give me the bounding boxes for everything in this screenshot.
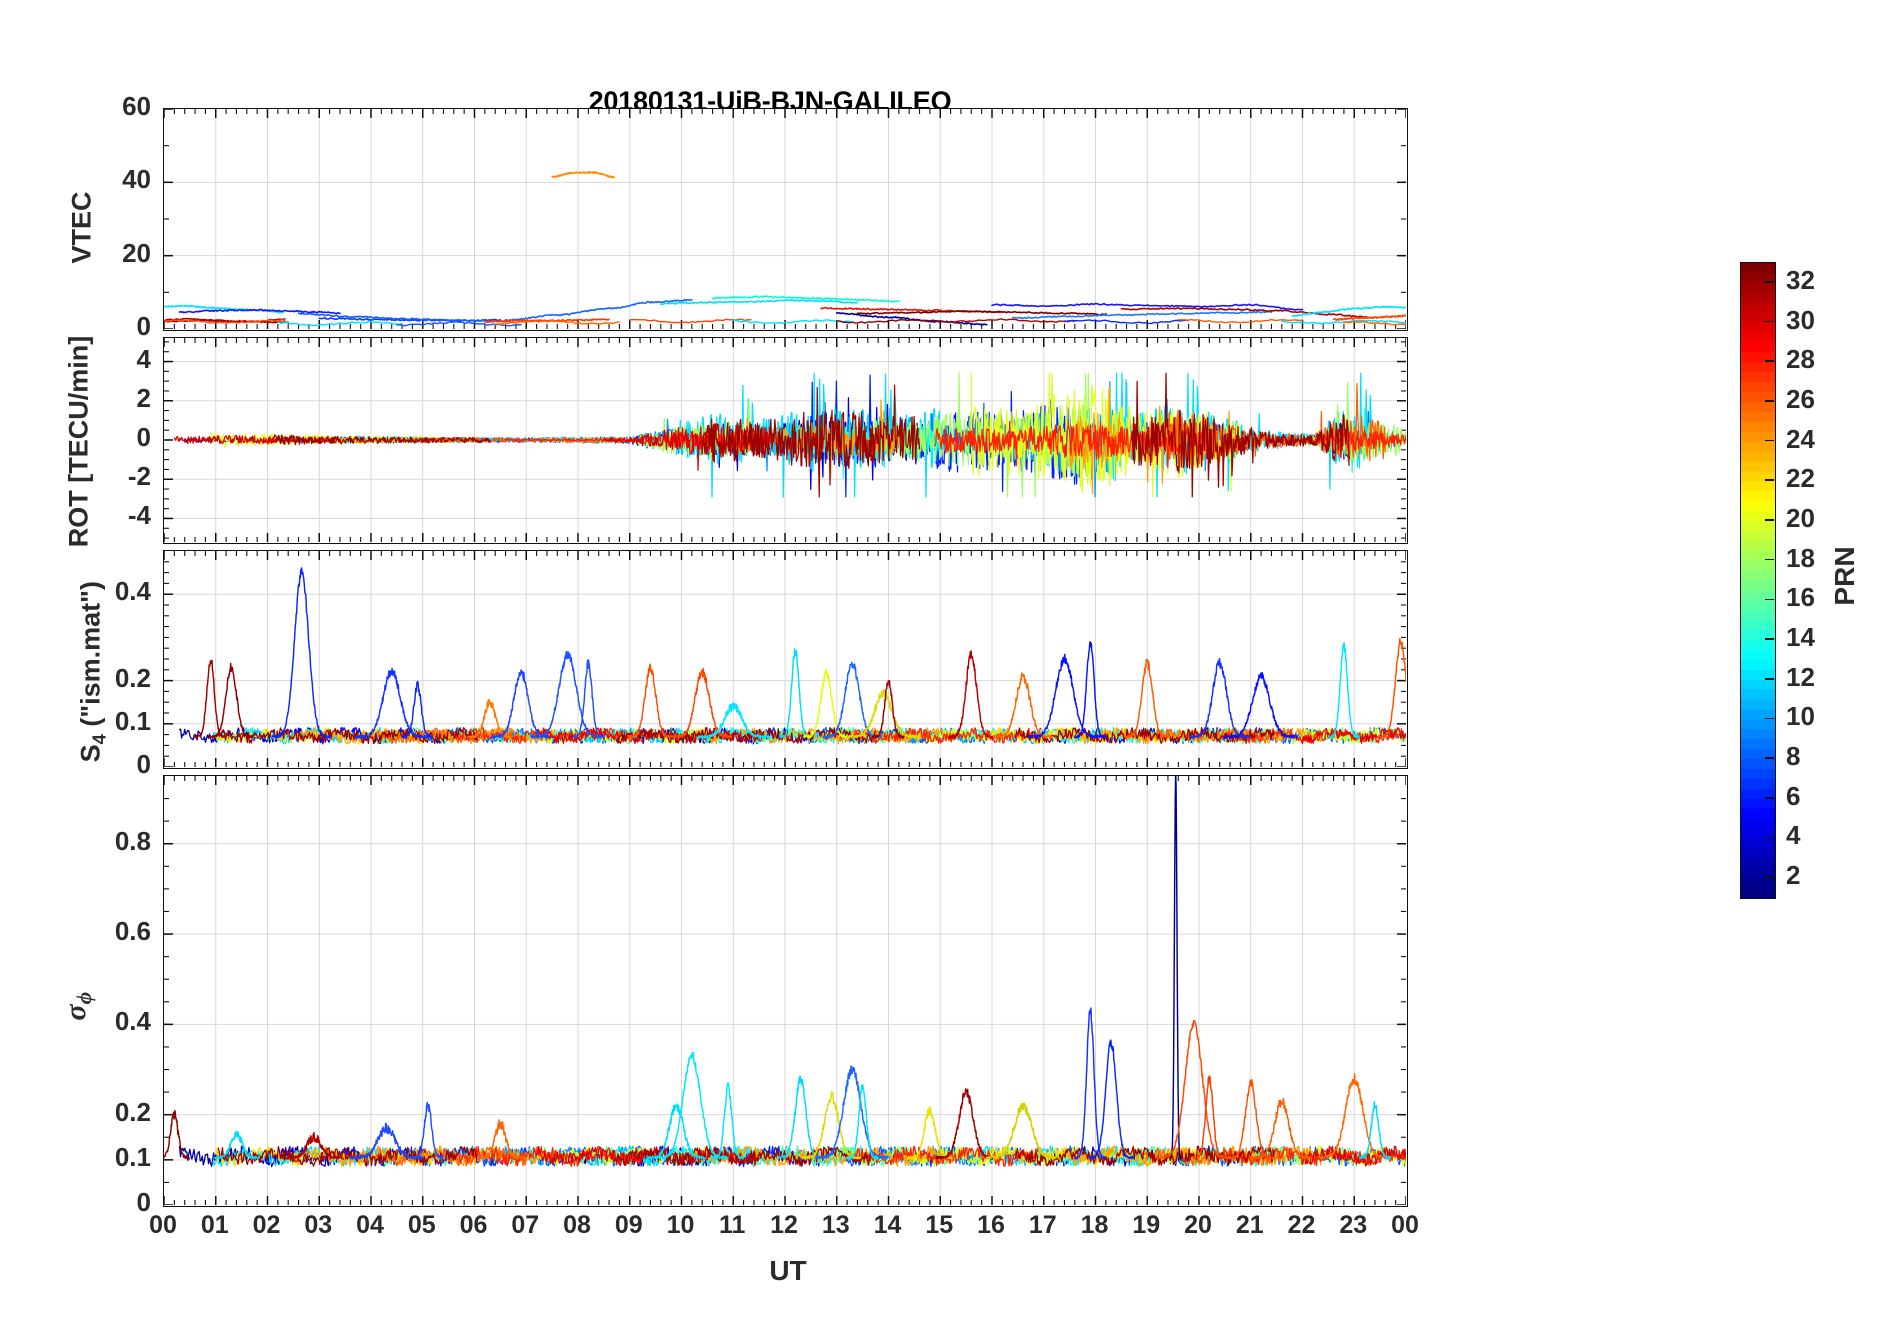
x-axis-label: UT (663, 1255, 913, 1287)
colorbar-tick-label: 26 (1786, 384, 1815, 415)
colorbar-tick (1765, 360, 1774, 362)
sigma-phi-plot-area (164, 776, 1406, 1205)
colorbar-tick (1765, 757, 1774, 759)
y-tick-label: 0.1 (33, 706, 151, 737)
colorbar-tick-label: 16 (1786, 582, 1815, 613)
y-tick-label: 0.2 (33, 1097, 151, 1128)
colorbar (1740, 262, 1776, 899)
vtec-plot-area (164, 109, 1406, 329)
y-tick-label: -4 (33, 500, 151, 531)
colorbar-tick-label: 4 (1786, 820, 1800, 851)
colorbar-tick-label: 8 (1786, 741, 1800, 772)
colorbar-tick-label: 14 (1786, 622, 1815, 653)
colorbar-tick (1765, 559, 1774, 561)
rot-plot-area (164, 338, 1406, 542)
colorbar-tick (1765, 638, 1774, 640)
colorbar-tick (1765, 876, 1774, 878)
y-tick-label: 0.4 (33, 1006, 151, 1037)
figure-root: 20180131-UiB-BJN-GALILEO VTEC ROT [TECU/… (0, 0, 1902, 1330)
panel-s4 (163, 550, 1408, 769)
y-tick-label: -2 (33, 461, 151, 492)
colorbar-tick (1765, 797, 1774, 799)
y-tick-label: 0.2 (33, 663, 151, 694)
y-tick-label: 4 (33, 344, 151, 375)
y-tick-label: 0.4 (33, 576, 151, 607)
colorbar-tick-label: 2 (1786, 860, 1800, 891)
colorbar-tick-label: 20 (1786, 503, 1815, 534)
y-tick-label: 60 (33, 91, 151, 122)
y-tick-label: 0 (33, 749, 151, 780)
y-tick-label: 0.8 (33, 826, 151, 857)
panel-rot (163, 337, 1408, 544)
colorbar-tick (1765, 440, 1774, 442)
colorbar-title: PRN (1829, 531, 1861, 621)
colorbar-tick (1765, 281, 1774, 283)
y-tick-label: 0.6 (33, 916, 151, 947)
colorbar-tick-label: 12 (1786, 662, 1815, 693)
colorbar-tick (1765, 837, 1774, 839)
colorbar-tick-label: 22 (1786, 463, 1815, 494)
colorbar-tick-label: 28 (1786, 344, 1815, 375)
y-tick-label: 20 (33, 238, 151, 269)
colorbar-tick (1765, 519, 1774, 521)
colorbar-tick-label: 24 (1786, 424, 1815, 455)
colorbar-tick-label: 6 (1786, 781, 1800, 812)
colorbar-tick-label: 18 (1786, 543, 1815, 574)
colorbar-tick (1765, 718, 1774, 720)
colorbar-tick-label: 30 (1786, 305, 1815, 336)
y-tick-label: 0 (33, 422, 151, 453)
colorbar-tick (1765, 321, 1774, 323)
x-tick-label: 00 (1375, 1211, 1435, 1240)
y-tick-label: 40 (33, 164, 151, 195)
colorbar-tick-label: 32 (1786, 265, 1815, 296)
colorbar-tick-label: 10 (1786, 701, 1815, 732)
panel-vtec (163, 108, 1408, 331)
colorbar-tick (1765, 678, 1774, 680)
colorbar-tick (1765, 479, 1774, 481)
colorbar-tick (1765, 599, 1774, 601)
y-tick-label: 0.1 (33, 1142, 151, 1173)
s4-plot-area (164, 551, 1406, 767)
y-tick-label: 2 (33, 383, 151, 414)
panel-sigma-phi (163, 775, 1408, 1207)
colorbar-tick (1765, 400, 1774, 402)
y-tick-label: 0 (33, 311, 151, 342)
